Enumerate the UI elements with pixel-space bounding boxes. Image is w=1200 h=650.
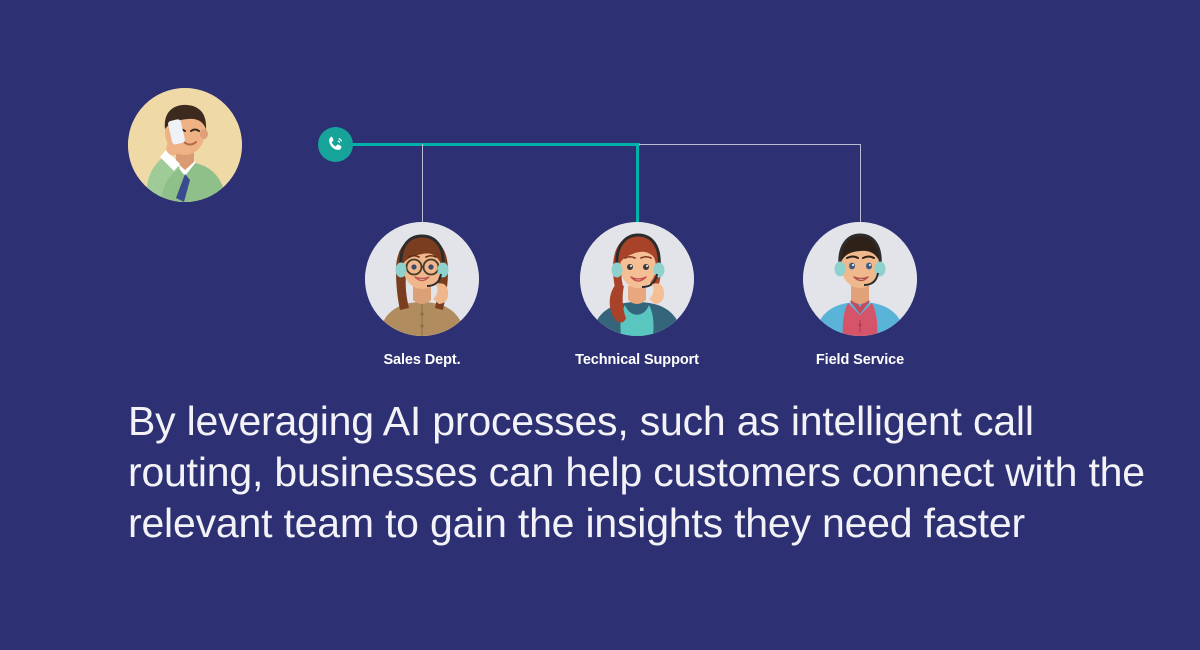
caller-avatar [128, 88, 242, 202]
phone-call-icon [318, 127, 353, 162]
connector-horizontal-idle [637, 144, 861, 145]
connector-horizontal-active [352, 143, 640, 146]
agent-node-technical-support[interactable]: Technical Support [557, 222, 717, 368]
agent-avatar-sales [365, 222, 479, 336]
agent-label-field-service: Field Service [780, 352, 940, 368]
agent-node-field-service[interactable]: Field Service [780, 222, 940, 368]
infographic-canvas: Sales Dept. [0, 0, 1200, 650]
caption-text: By leveraging AI processes, such as inte… [128, 396, 1148, 549]
agent-node-sales[interactable]: Sales Dept. [342, 222, 502, 368]
agent-avatar-technical-support [580, 222, 694, 336]
agent-label-technical-support: Technical Support [557, 352, 717, 368]
agent-label-sales: Sales Dept. [342, 352, 502, 368]
agent-avatar-field-service [803, 222, 917, 336]
